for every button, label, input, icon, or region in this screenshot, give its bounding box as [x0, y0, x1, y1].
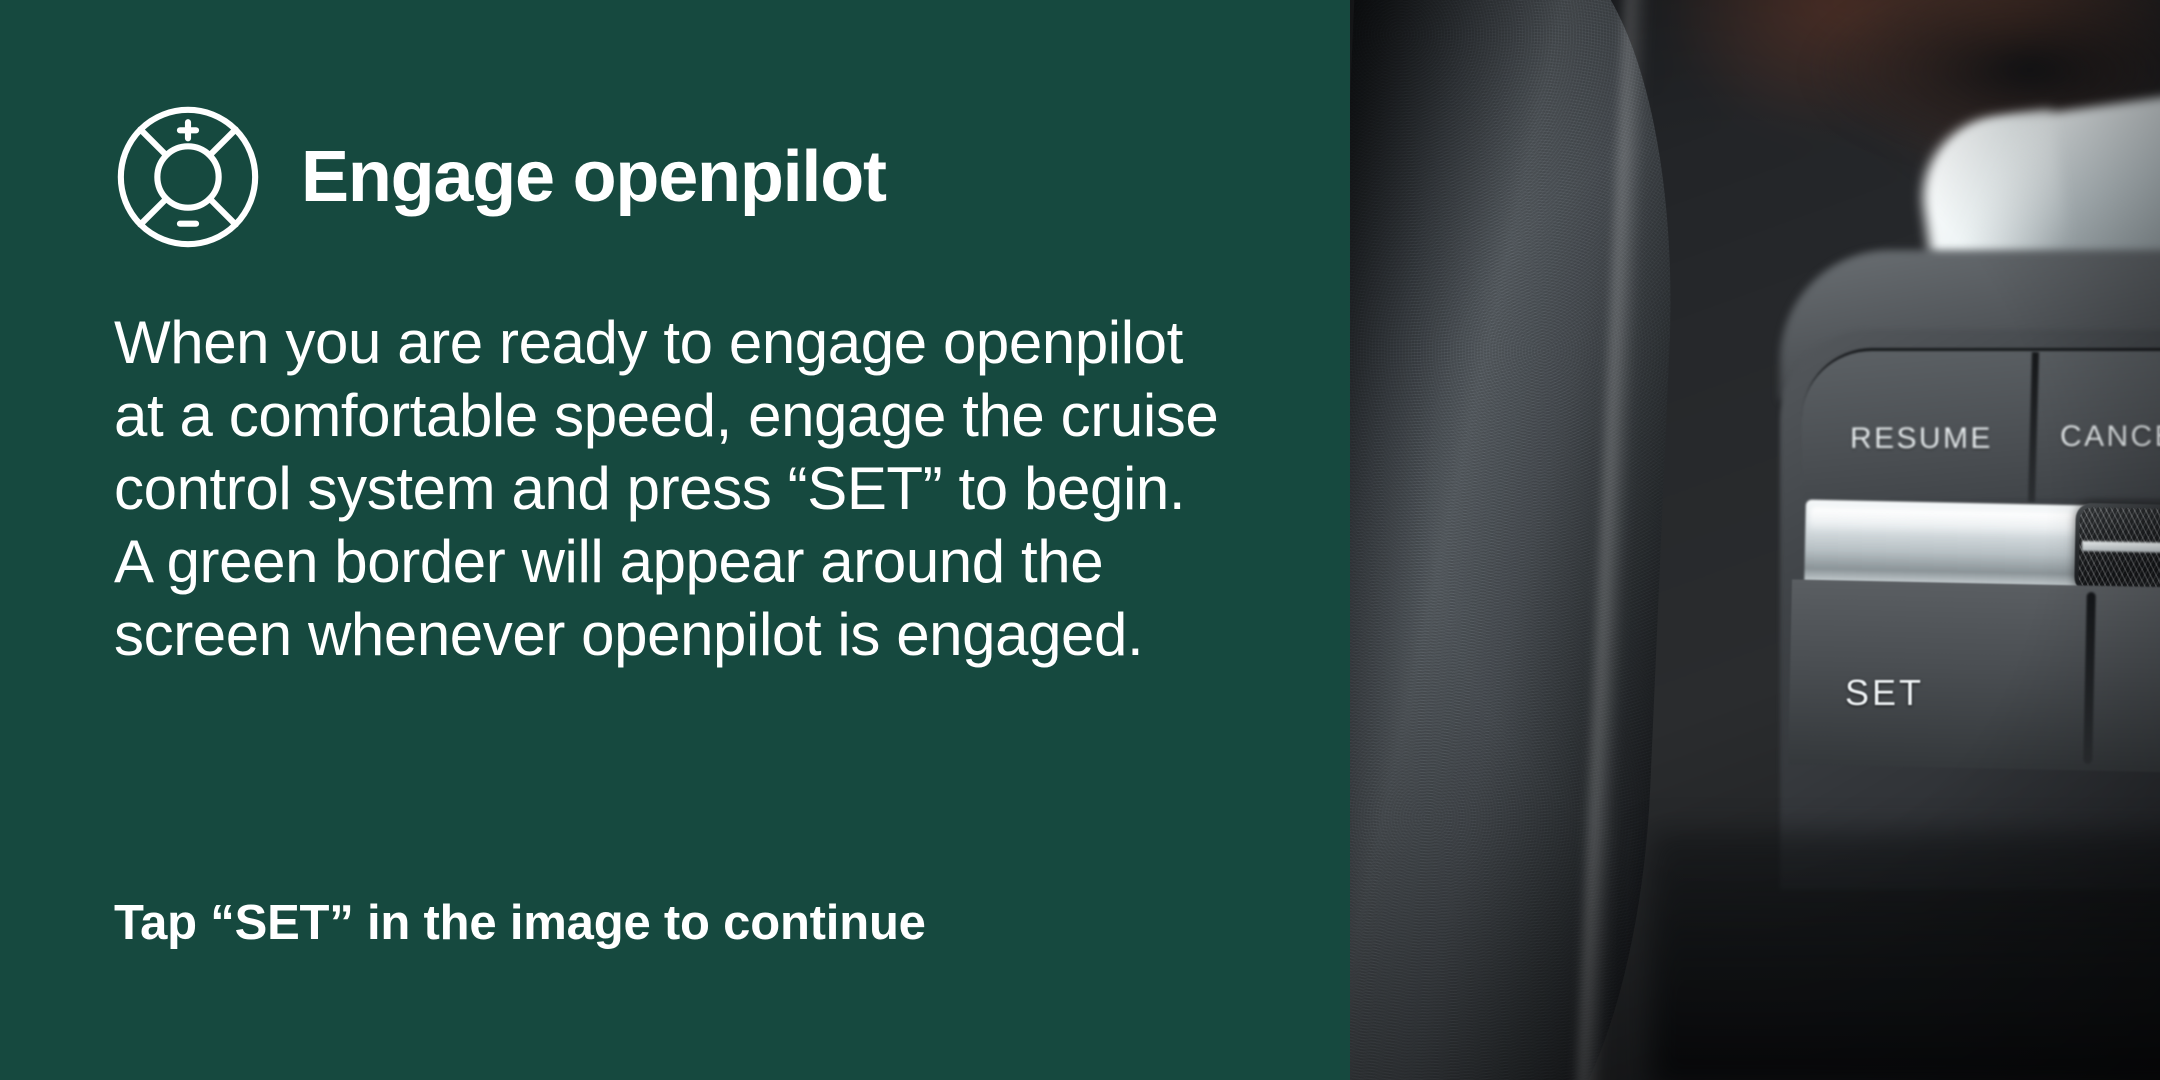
instruction-panel: Engage openpilot When you are ready to e… — [0, 0, 1350, 1080]
resume-button[interactable]: RESUME — [1850, 422, 1993, 456]
cancel-button[interactable]: CANCEL — [2060, 420, 2160, 454]
instruction-body: When you are ready to engage openpilot a… — [114, 306, 1294, 671]
button-plate-lower — [1788, 579, 2160, 775]
page-title: Engage openpilot — [301, 141, 886, 213]
set-button[interactable]: SET — [1845, 672, 1924, 714]
onboarding-screen: Engage openpilot When you are ready to e… — [0, 0, 2160, 1080]
call-to-action-text: Tap “SET” in the image to continue — [114, 895, 926, 951]
cruise-control-icon — [115, 104, 261, 250]
body-line: at a comfortable speed, engage the cruis… — [114, 379, 1294, 452]
lower-shadow — [1650, 830, 2160, 1080]
panel-header: Engage openpilot — [115, 104, 886, 250]
steering-wheel-photo[interactable]: RESUME CANCEL + − SET — [1350, 0, 2160, 1080]
body-line: control system and press “SET” to begin. — [114, 452, 1294, 525]
body-line: A green border will appear around the — [114, 525, 1294, 598]
body-line: screen whenever openpilot is engaged. — [114, 598, 1294, 671]
body-line: When you are ready to engage openpilot — [114, 306, 1294, 379]
